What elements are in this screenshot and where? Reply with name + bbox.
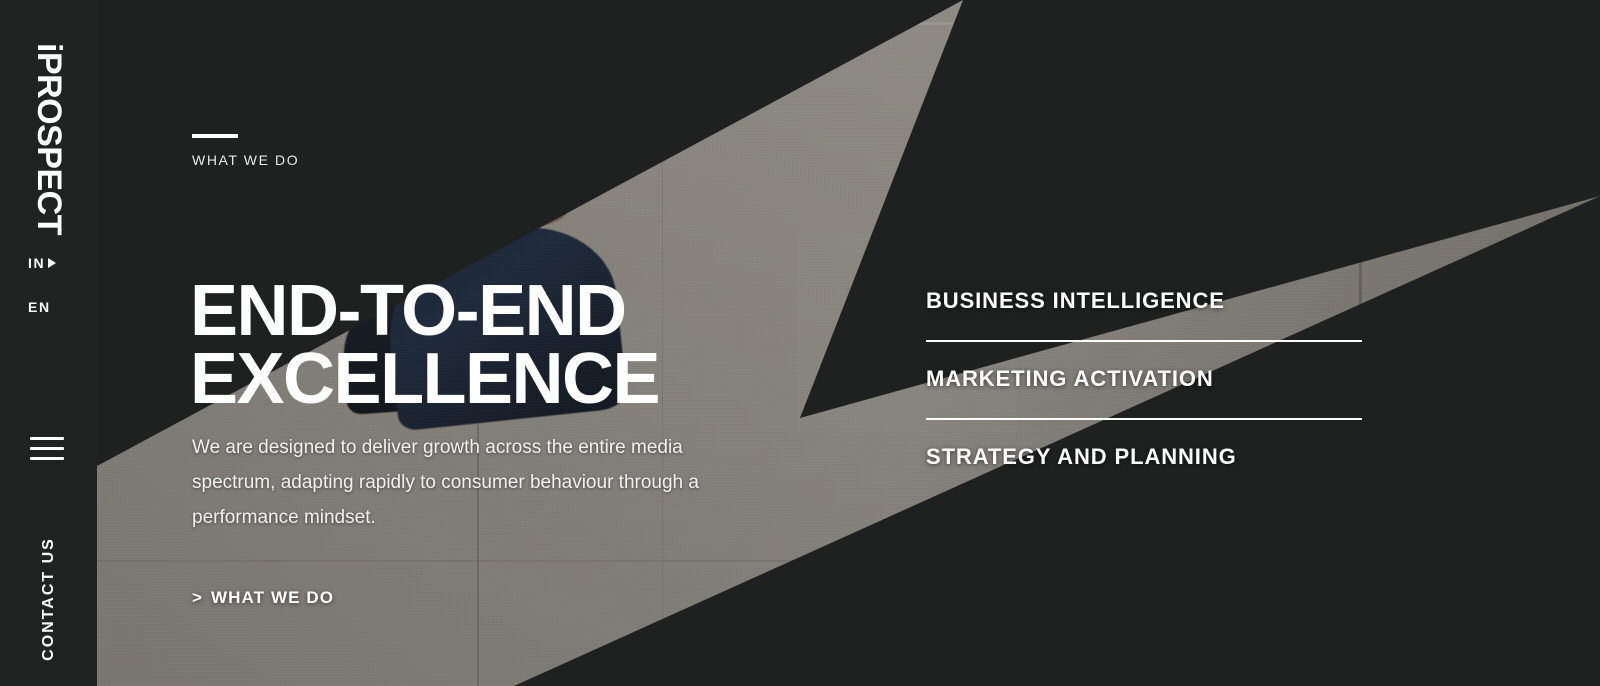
brand-logo[interactable]: iPROSPECT: [32, 43, 66, 235]
hamburger-bar: [30, 437, 64, 440]
service-item-strategy-and-planning[interactable]: STRATEGY AND PLANNING: [926, 444, 1362, 474]
language-selector-en[interactable]: EN: [28, 299, 51, 315]
services-list: BUSINESS INTELLIGENCE MARKETING ACTIVATI…: [926, 288, 1362, 474]
page-title: END-TO-END EXCELLENCE: [190, 277, 890, 414]
triangle-right-icon: [48, 258, 56, 268]
what-we-do-cta[interactable]: > WHAT WE DO: [192, 588, 334, 608]
service-divider: [926, 340, 1362, 342]
left-sidebar: iPROSPECT IN EN CONTACT US: [0, 0, 97, 686]
cta-label: WHAT WE DO: [211, 588, 334, 608]
chevron-right-icon: >: [192, 588, 203, 608]
page-root: iPROSPECT IN EN CONTACT US WHAT WE DO EN…: [0, 0, 1600, 686]
hamburger-bar: [30, 447, 64, 450]
hero-paragraph: We are designed to deliver growth across…: [192, 430, 712, 535]
contact-us-link[interactable]: CONTACT US: [40, 537, 58, 661]
language-label: EN: [28, 299, 51, 315]
hero-content: WHAT WE DO END-TO-END EXCELLENCE We are …: [0, 0, 1600, 686]
eyebrow-rule: [192, 134, 238, 138]
region-label: IN: [28, 255, 45, 271]
service-divider: [926, 418, 1362, 420]
hamburger-bar: [30, 457, 64, 460]
service-item-marketing-activation[interactable]: MARKETING ACTIVATION: [926, 366, 1362, 396]
service-item-business-intelligence[interactable]: BUSINESS INTELLIGENCE: [926, 288, 1362, 318]
eyebrow-label: WHAT WE DO: [192, 152, 299, 168]
region-selector-in[interactable]: IN: [28, 255, 56, 271]
hamburger-menu-icon[interactable]: [30, 437, 64, 460]
